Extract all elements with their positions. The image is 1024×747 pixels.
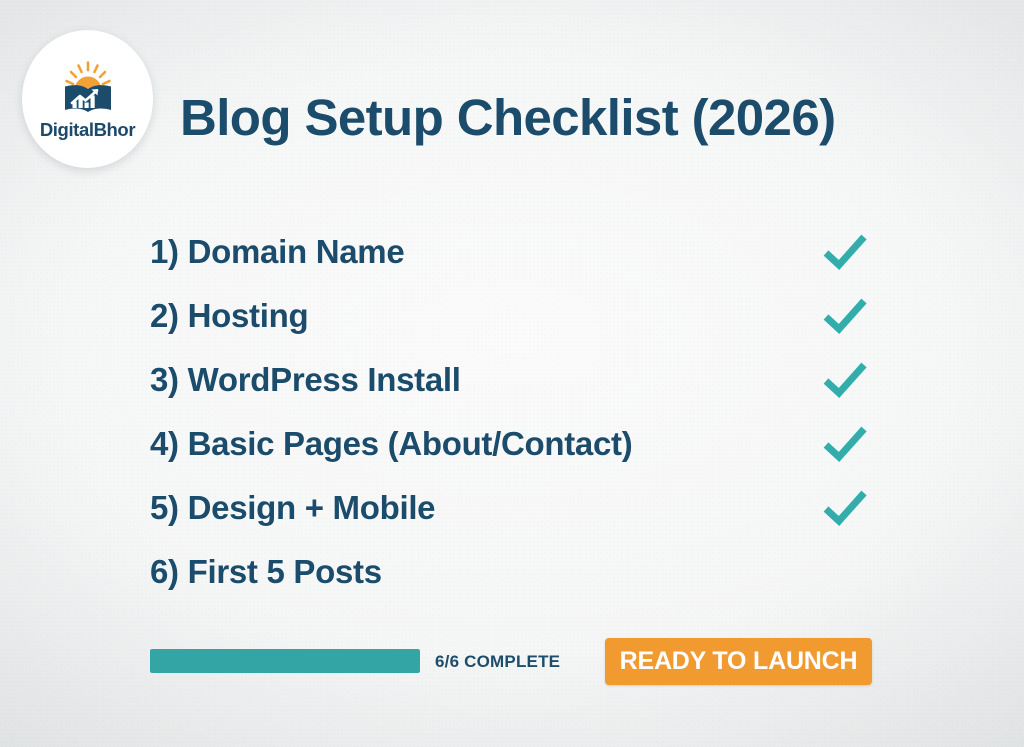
progress-bar (150, 649, 420, 673)
checklist-item-label: 5) Design + Mobile (150, 489, 435, 527)
checklist-item-label: 1) Domain Name (150, 233, 404, 271)
checklist-item[interactable]: 4) Basic Pages (About/Contact) (150, 412, 872, 476)
check-mark-icon (822, 284, 882, 348)
progress-bar-fill (150, 649, 420, 673)
page-title: Blog Setup Checklist (2026) (180, 88, 835, 147)
progress-label: 6/6 COMPLETE (435, 652, 560, 672)
brand-name: DigitalBhor (40, 121, 135, 140)
brand-logo-badge: DigitalBhor (22, 30, 153, 168)
checklist-item[interactable]: 6) First 5 Posts (150, 540, 872, 604)
checklist-item-label: 3) WordPress Install (150, 361, 461, 399)
check-mark-icon-placeholder (822, 540, 882, 604)
ready-to-launch-button[interactable]: READY TO LAUNCH (605, 638, 872, 685)
checklist: 1) Domain Name 2) Hosting 3) WordPress I… (150, 220, 872, 604)
check-mark-icon (822, 412, 882, 476)
check-mark-icon (822, 348, 882, 412)
sun-over-open-book-growth-chart-icon (54, 61, 122, 117)
check-mark-icon (822, 220, 882, 284)
checklist-graphic: DigitalBhor Blog Setup Checklist (2026) … (0, 0, 1024, 747)
checklist-item[interactable]: 3) WordPress Install (150, 348, 872, 412)
checklist-item-label: 4) Basic Pages (About/Contact) (150, 425, 632, 463)
check-mark-icon (822, 476, 882, 540)
checklist-item-label: 6) First 5 Posts (150, 553, 382, 591)
checklist-item-label: 2) Hosting (150, 297, 308, 335)
checklist-item[interactable]: 2) Hosting (150, 284, 872, 348)
checklist-item[interactable]: 5) Design + Mobile (150, 476, 872, 540)
footer: 6/6 COMPLETE READY TO LAUNCH (150, 638, 872, 686)
checklist-item[interactable]: 1) Domain Name (150, 220, 872, 284)
